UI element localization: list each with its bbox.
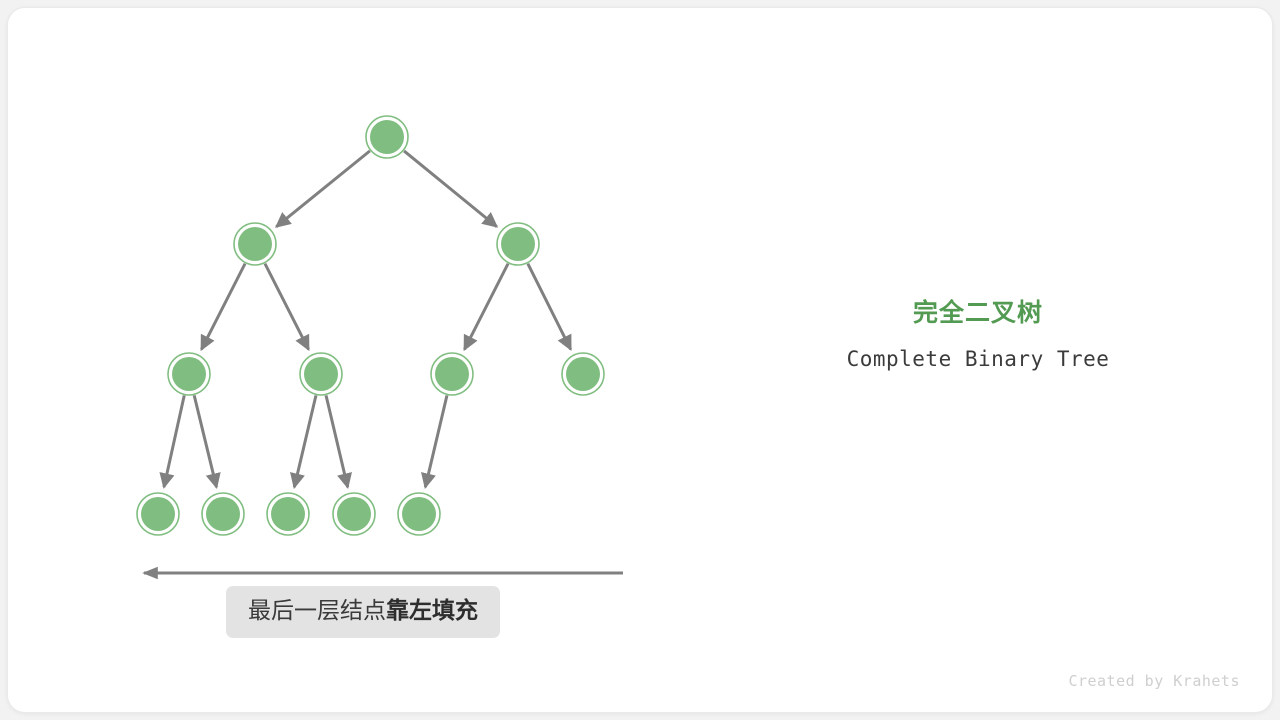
tree-node-core xyxy=(172,357,206,391)
tree-node-core xyxy=(566,357,600,391)
tree-node-core xyxy=(304,357,338,391)
tree-node-core xyxy=(238,227,272,261)
tree-node xyxy=(431,353,473,395)
tree-node xyxy=(497,223,539,265)
tree-edge xyxy=(164,395,184,487)
tree-node xyxy=(267,493,309,535)
caption-text-normal: 最后一层结点 xyxy=(248,597,386,623)
tree-edge xyxy=(194,395,216,487)
diagram-card: 完全二叉树 Complete Binary Tree 最后一层结点靠左填充 Cr… xyxy=(7,7,1273,713)
screenshot-root: 完全二叉树 Complete Binary Tree 最后一层结点靠左填充 Cr… xyxy=(0,0,1280,720)
tree-node-core xyxy=(370,120,404,154)
tree-edge xyxy=(201,264,245,350)
tree-edge xyxy=(404,151,497,227)
tree-node xyxy=(562,353,604,395)
legend-block: 完全二叉树 Complete Binary Tree xyxy=(798,298,1158,371)
tree-node xyxy=(137,493,179,535)
tree-edge xyxy=(276,151,370,227)
tree-edge xyxy=(528,264,571,350)
tree-node-core xyxy=(206,497,240,531)
tree-edge xyxy=(265,264,309,350)
tree-node xyxy=(300,353,342,395)
tree-node xyxy=(366,116,408,158)
tree-nodes xyxy=(137,116,604,535)
tree-node-core xyxy=(337,497,371,531)
tree-node-core xyxy=(402,497,436,531)
tree-node xyxy=(202,493,244,535)
legend-title-cn: 完全二叉树 xyxy=(798,298,1158,328)
legend-title-en: Complete Binary Tree xyxy=(798,347,1158,371)
tree-edges xyxy=(164,151,571,487)
tree-edge xyxy=(326,395,348,487)
tree-node-core xyxy=(435,357,469,391)
tree-edge xyxy=(294,395,316,487)
tree-node-core xyxy=(501,227,535,261)
caption-text-bold: 靠左填充 xyxy=(386,597,478,623)
tree-edge xyxy=(425,395,447,487)
tree-node xyxy=(234,223,276,265)
caption-badge: 最后一层结点靠左填充 xyxy=(226,586,500,638)
watermark-label: Created by Krahets xyxy=(1068,672,1240,690)
tree-node xyxy=(168,353,210,395)
tree-node xyxy=(398,493,440,535)
tree-node-core xyxy=(141,497,175,531)
tree-node-core xyxy=(271,497,305,531)
tree-node xyxy=(333,493,375,535)
tree-edge xyxy=(464,264,508,350)
